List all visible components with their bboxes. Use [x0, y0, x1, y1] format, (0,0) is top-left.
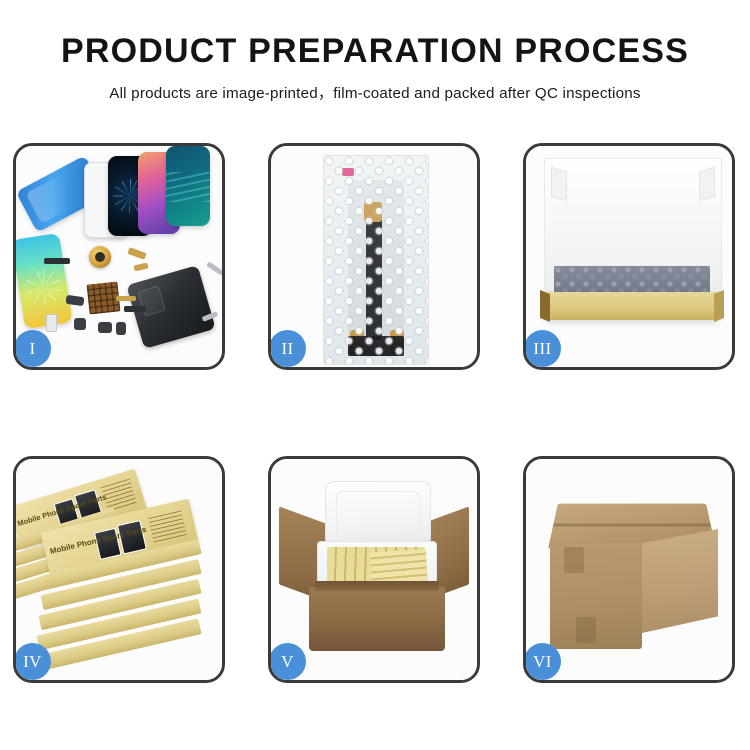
box-label-text-lines-b: [148, 511, 187, 546]
step-badge-3: III: [524, 330, 561, 367]
screwdriver-tool: [206, 261, 222, 275]
step-badge-4: IV: [14, 643, 51, 680]
step-panel-6[interactable]: VI: [523, 456, 735, 683]
product-preparation-process-page: PRODUCT PREPARATION PROCESS All products…: [0, 0, 750, 750]
kraft-box-tray: [546, 292, 718, 320]
step-panel-2[interactable]: II: [268, 143, 480, 370]
step-panel-4[interactable]: Mobile Phone Spare Parts Mobile Phone Sp…: [13, 456, 225, 683]
flex-cable-3: [116, 296, 136, 301]
vibrator-module: [98, 322, 112, 333]
step-badge-5: V: [269, 643, 306, 680]
part-bar-1: [44, 258, 70, 264]
step-panel-3[interactable]: III: [523, 143, 735, 370]
process-steps-grid: I II: [13, 143, 737, 683]
step-panel-5[interactable]: V: [268, 456, 480, 683]
step-5-image: [271, 459, 477, 680]
step-panel-1[interactable]: I: [13, 143, 225, 370]
part-bar-2: [124, 306, 146, 312]
page-title: PRODUCT PREPARATION PROCESS: [0, 33, 750, 70]
page-subtitle: All products are image-printed，film-coat…: [0, 81, 750, 103]
bubble-wrap-pouch: [323, 155, 429, 365]
lid-flap-right: [699, 167, 715, 202]
carton-tab-upper: [564, 547, 584, 573]
carton-tab-lower: [576, 617, 596, 643]
teal-gradient-phone: [166, 146, 210, 226]
tray-right-edge: [714, 290, 724, 322]
battery-connector: [116, 322, 126, 335]
step-badge-6: VI: [524, 643, 561, 680]
box-label-text-lines-a: [101, 479, 137, 513]
step-6-image: [526, 459, 732, 680]
flex-cable-1: [127, 247, 146, 260]
sim-tray: [46, 314, 57, 332]
carton-body: [309, 587, 445, 651]
step-4-image: Mobile Phone Spare Parts Mobile Phone Sp…: [16, 459, 222, 680]
camera-module: [74, 318, 86, 330]
bubble-texture: [324, 156, 428, 364]
step-badge-1: I: [14, 330, 51, 367]
carton-side-face: [642, 529, 718, 633]
foam-box-lid: [325, 481, 431, 547]
header: PRODUCT PREPARATION PROCESS All products…: [0, 0, 750, 103]
step-badge-2: II: [269, 330, 306, 367]
step-1-image: [16, 146, 222, 367]
flex-cable-2: [134, 263, 149, 272]
step-3-image: [526, 146, 732, 367]
lid-flap-left: [551, 167, 567, 202]
colorful-phone-screen: [16, 233, 73, 329]
speaker-coil: [89, 246, 111, 268]
step-2-image: [271, 146, 477, 367]
